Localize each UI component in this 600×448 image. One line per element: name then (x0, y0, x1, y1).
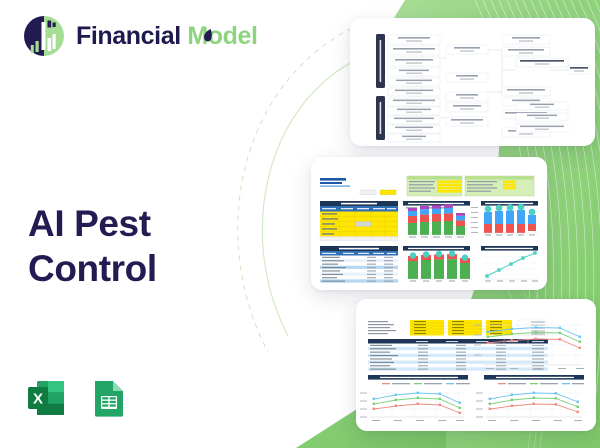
summary-rows (368, 344, 548, 371)
excel-letter: X (33, 391, 43, 408)
dupont-tree (350, 18, 595, 146)
poster-canvas: Financial Model AI Pest Control X (0, 0, 600, 448)
dashboard-sheet (311, 157, 547, 290)
dupont-col2-nodes (446, 45, 488, 126)
brand-name-part2-wrap: Model (187, 24, 257, 49)
excel-file-icon[interactable]: X (24, 376, 68, 420)
financial-model-circle-chart-logo (22, 14, 66, 58)
core-inputs-table (320, 201, 398, 241)
cash-summary-rows (320, 256, 398, 283)
dupont-col1-nodes (388, 35, 440, 142)
dupont-col5-nodes (568, 65, 590, 74)
brand-wordmark: Financial Model (76, 24, 258, 49)
file-format-icons: X (24, 376, 130, 420)
assumption-panels (407, 176, 534, 196)
brand-name-part2: Model (187, 22, 257, 50)
dupont-analysis-diagram-card[interactable] (350, 18, 595, 146)
reset-button (360, 190, 376, 195)
brand-name-part1: Financial (76, 24, 181, 49)
projection-sheet (356, 299, 596, 431)
google-sheets-file-icon[interactable] (86, 376, 130, 420)
leaf-icon (203, 29, 212, 42)
cash-summary-table (320, 246, 398, 283)
report-button (380, 190, 396, 195)
projection-charts-card[interactable] (356, 299, 596, 431)
financial-dashboard-card[interactable] (311, 157, 547, 290)
page-title-line1: AI Pest (28, 203, 151, 244)
brand-logo: Financial Model (22, 14, 258, 58)
dupont-col3-nodes (502, 35, 550, 137)
page-title-line2: Control (28, 246, 258, 292)
page-title: AI Pest Control (28, 201, 258, 292)
